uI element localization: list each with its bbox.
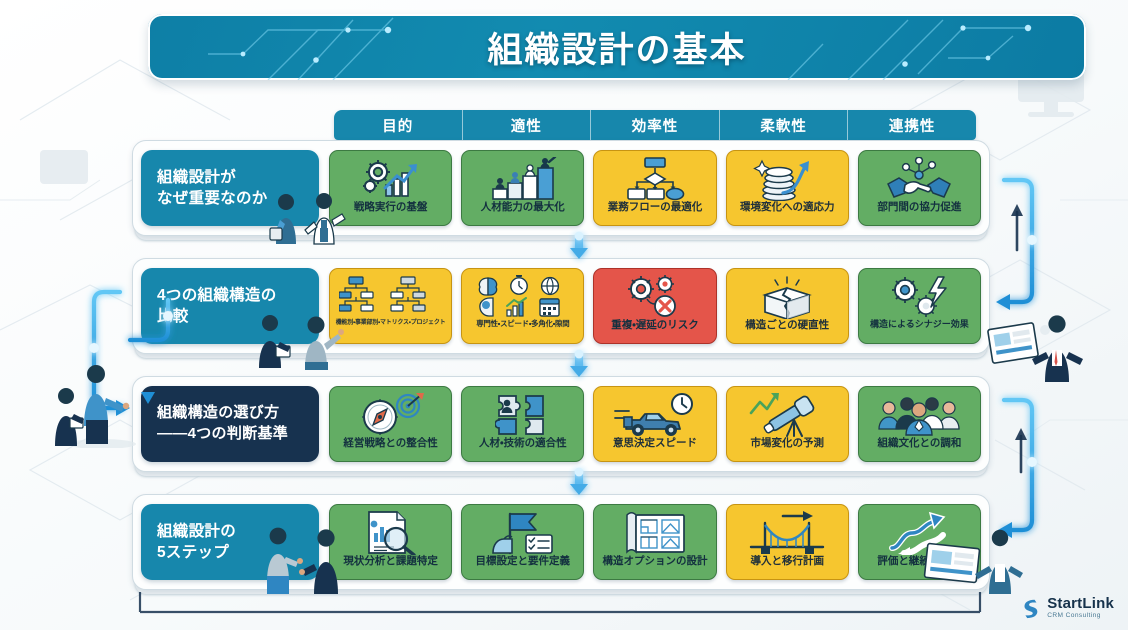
- card-label: 導入と移行計画: [750, 556, 824, 567]
- card-label: 構造オプションの設計: [603, 556, 708, 567]
- card-label: 重複・遅延のリスク: [611, 320, 699, 331]
- card-talent-maximize[interactable]: 人材能力の最大化: [461, 150, 584, 226]
- row-2-cards: 機能別・事業部別・マトリクス・プロジェクト: [329, 268, 981, 344]
- compass-target-icon: [356, 391, 426, 438]
- card-culture-harmony[interactable]: 組織文化との調和: [858, 386, 981, 462]
- card-label: 目標設定と要件定義: [476, 556, 571, 567]
- right-flow-path: [1002, 180, 1032, 530]
- report-magnifier-icon: [361, 509, 421, 556]
- card-label: 組織文化との調和: [877, 438, 961, 449]
- telescope-trend-icon: [749, 391, 825, 438]
- spring-arrow-icon: [753, 155, 821, 202]
- gears-bolt-icon: [884, 273, 954, 320]
- people-illustration-right-upper: [986, 312, 1104, 386]
- card-label: 経営戦略との整合性: [343, 438, 437, 449]
- card-label: 専門性・スピード・多角化・隙間: [476, 320, 569, 327]
- card-strategy-foundation[interactable]: 戦略実行の基盤: [329, 150, 452, 226]
- column-header-flexibility: 柔軟性: [720, 110, 849, 140]
- cycle-arrows-icon: [886, 509, 952, 556]
- card-structure-types[interactable]: 機能別・事業部別・マトリクス・プロジェクト: [329, 268, 452, 344]
- row-4-cards: 現状分析と課題特定: [329, 504, 981, 580]
- card-rollout-migration[interactable]: 導入と移行計画: [726, 504, 849, 580]
- row-1-label-line1: 組織設計が: [157, 167, 268, 188]
- row-2-label-line1: 4つの組織構造の: [157, 285, 277, 306]
- card-structural-rigidity[interactable]: 構造ごとの硬直性: [726, 268, 849, 344]
- row-4-label-line1: 組織設計の: [157, 521, 236, 542]
- brand-tagline: CRM Consulting: [1047, 613, 1114, 620]
- row-1-label: 組織設計が なぜ重要なのか: [141, 150, 319, 226]
- card-synergy-effect[interactable]: 構造によるシナジー効果: [858, 268, 981, 344]
- gear-growth-icon: [359, 155, 423, 202]
- matrix-row-2: 4つの組織構造の 比較: [132, 258, 990, 354]
- column-header-efficiency: 効率性: [591, 110, 720, 140]
- card-overlap-delay-risk[interactable]: 重複・遅延のリスク: [593, 268, 716, 344]
- six-attributes-icon: [475, 273, 571, 320]
- card-market-forecast[interactable]: 市場変化の予測: [726, 386, 849, 462]
- puzzle-person-icon: [495, 391, 551, 438]
- people-podium-icon: [487, 155, 559, 202]
- column-header-purpose: 目的: [334, 110, 463, 140]
- gears-error-icon: [619, 273, 691, 320]
- left-arrowheads: [104, 400, 130, 416]
- page-title-banner: 組織設計の基本: [148, 14, 1086, 80]
- blueprint-icon: [621, 509, 689, 556]
- card-interdept-cooperation[interactable]: 部門間の協力促進: [858, 150, 981, 226]
- flowchart-icon: [616, 155, 694, 202]
- row-4-label: 組織設計の 5ステップ: [141, 504, 319, 580]
- card-decision-speed[interactable]: 意思決定スピード: [593, 386, 716, 462]
- card-label: 業務フローの最適化: [608, 202, 703, 213]
- row-3-cards: 経営戦略との整合性 人材・技術の適合性: [329, 386, 981, 462]
- card-structure-attributes[interactable]: 専門性・スピード・多角化・隙間: [461, 268, 584, 344]
- card-evaluate-improve[interactable]: 評価と継続的改善: [858, 504, 981, 580]
- card-design-options[interactable]: 構造オプションの設計: [593, 504, 716, 580]
- row-1-label-line2: なぜ重要なのか: [157, 188, 268, 209]
- card-current-analysis[interactable]: 現状分析と課題特定: [329, 504, 452, 580]
- bottom-rail: [140, 592, 980, 612]
- card-talent-tech-fit[interactable]: 人材・技術の適合性: [461, 386, 584, 462]
- startlink-mark-icon: [1019, 597, 1041, 619]
- card-label: 環境変化への適応力: [740, 202, 835, 213]
- card-label: 戦略実行の基盤: [354, 202, 428, 213]
- card-strategy-alignment[interactable]: 経営戦略との整合性: [329, 386, 452, 462]
- card-label: 現状分析と課題特定: [343, 556, 438, 567]
- matrix-row-4: 組織設計の 5ステップ: [132, 494, 990, 590]
- row-3-label-line1: 組織構造の選び方: [157, 403, 288, 424]
- right-flow-nodes: [1027, 235, 1037, 467]
- card-label: 人材・技術の適合性: [479, 438, 567, 449]
- team-group-icon: [877, 391, 961, 438]
- card-workflow-optimize[interactable]: 業務フローの最適化: [593, 150, 716, 226]
- page-title: 組織設計の基本: [487, 22, 746, 73]
- card-goal-requirements[interactable]: 目標設定と要件定義: [461, 504, 584, 580]
- row-2-label: 4つの組織構造の 比較: [141, 268, 319, 344]
- row-4-label-line2: 5ステップ: [157, 542, 236, 563]
- card-label: 部門間の協力促進: [877, 202, 961, 213]
- column-header-linkage: 連携性: [848, 110, 976, 140]
- card-label: 評価と継続的改善: [877, 556, 961, 567]
- row-3-label: 組織構造の選び方 ——4つの判断基準: [141, 386, 319, 462]
- card-adaptability[interactable]: 環境変化への適応力: [726, 150, 849, 226]
- card-label: 機能別・事業部別・マトリクス・プロジェクト: [336, 320, 446, 326]
- right-arrowheads: [996, 294, 1012, 538]
- brand-logo: StartLink CRM Consulting: [1019, 596, 1114, 620]
- row-3-label-line2: ——4つの判断基準: [157, 424, 288, 445]
- card-label: 市場変化の予測: [750, 438, 824, 449]
- column-header-bar: 目的 適性 効率性 柔軟性 連携性: [334, 110, 976, 140]
- racecar-clock-icon: [614, 391, 696, 438]
- column-header-aptitude: 適性: [463, 110, 592, 140]
- bridge-arrow-icon: [749, 509, 825, 556]
- right-up-arrows: [1017, 212, 1021, 472]
- card-label: 構造によるシナジー効果: [870, 320, 969, 329]
- matrix-row-1: 組織設計が なぜ重要なのか: [132, 140, 990, 236]
- card-label: 人材能力の最大化: [481, 202, 565, 213]
- card-label: 意思決定スピード: [613, 438, 697, 449]
- matrix-row-3: 組織構造の選び方 ——4つの判断基準: [132, 376, 990, 472]
- flag-checklist-icon: [488, 509, 558, 556]
- brand-name: StartLink: [1047, 596, 1114, 611]
- row-2-label-line2: 比較: [157, 306, 277, 327]
- card-label: 構造ごとの硬直性: [745, 320, 829, 331]
- cracked-box-icon: [757, 273, 817, 320]
- handshake-network-icon: [884, 155, 954, 202]
- row-1-cards: 戦略実行の基盤: [329, 150, 981, 226]
- org-charts-icon: [339, 273, 443, 320]
